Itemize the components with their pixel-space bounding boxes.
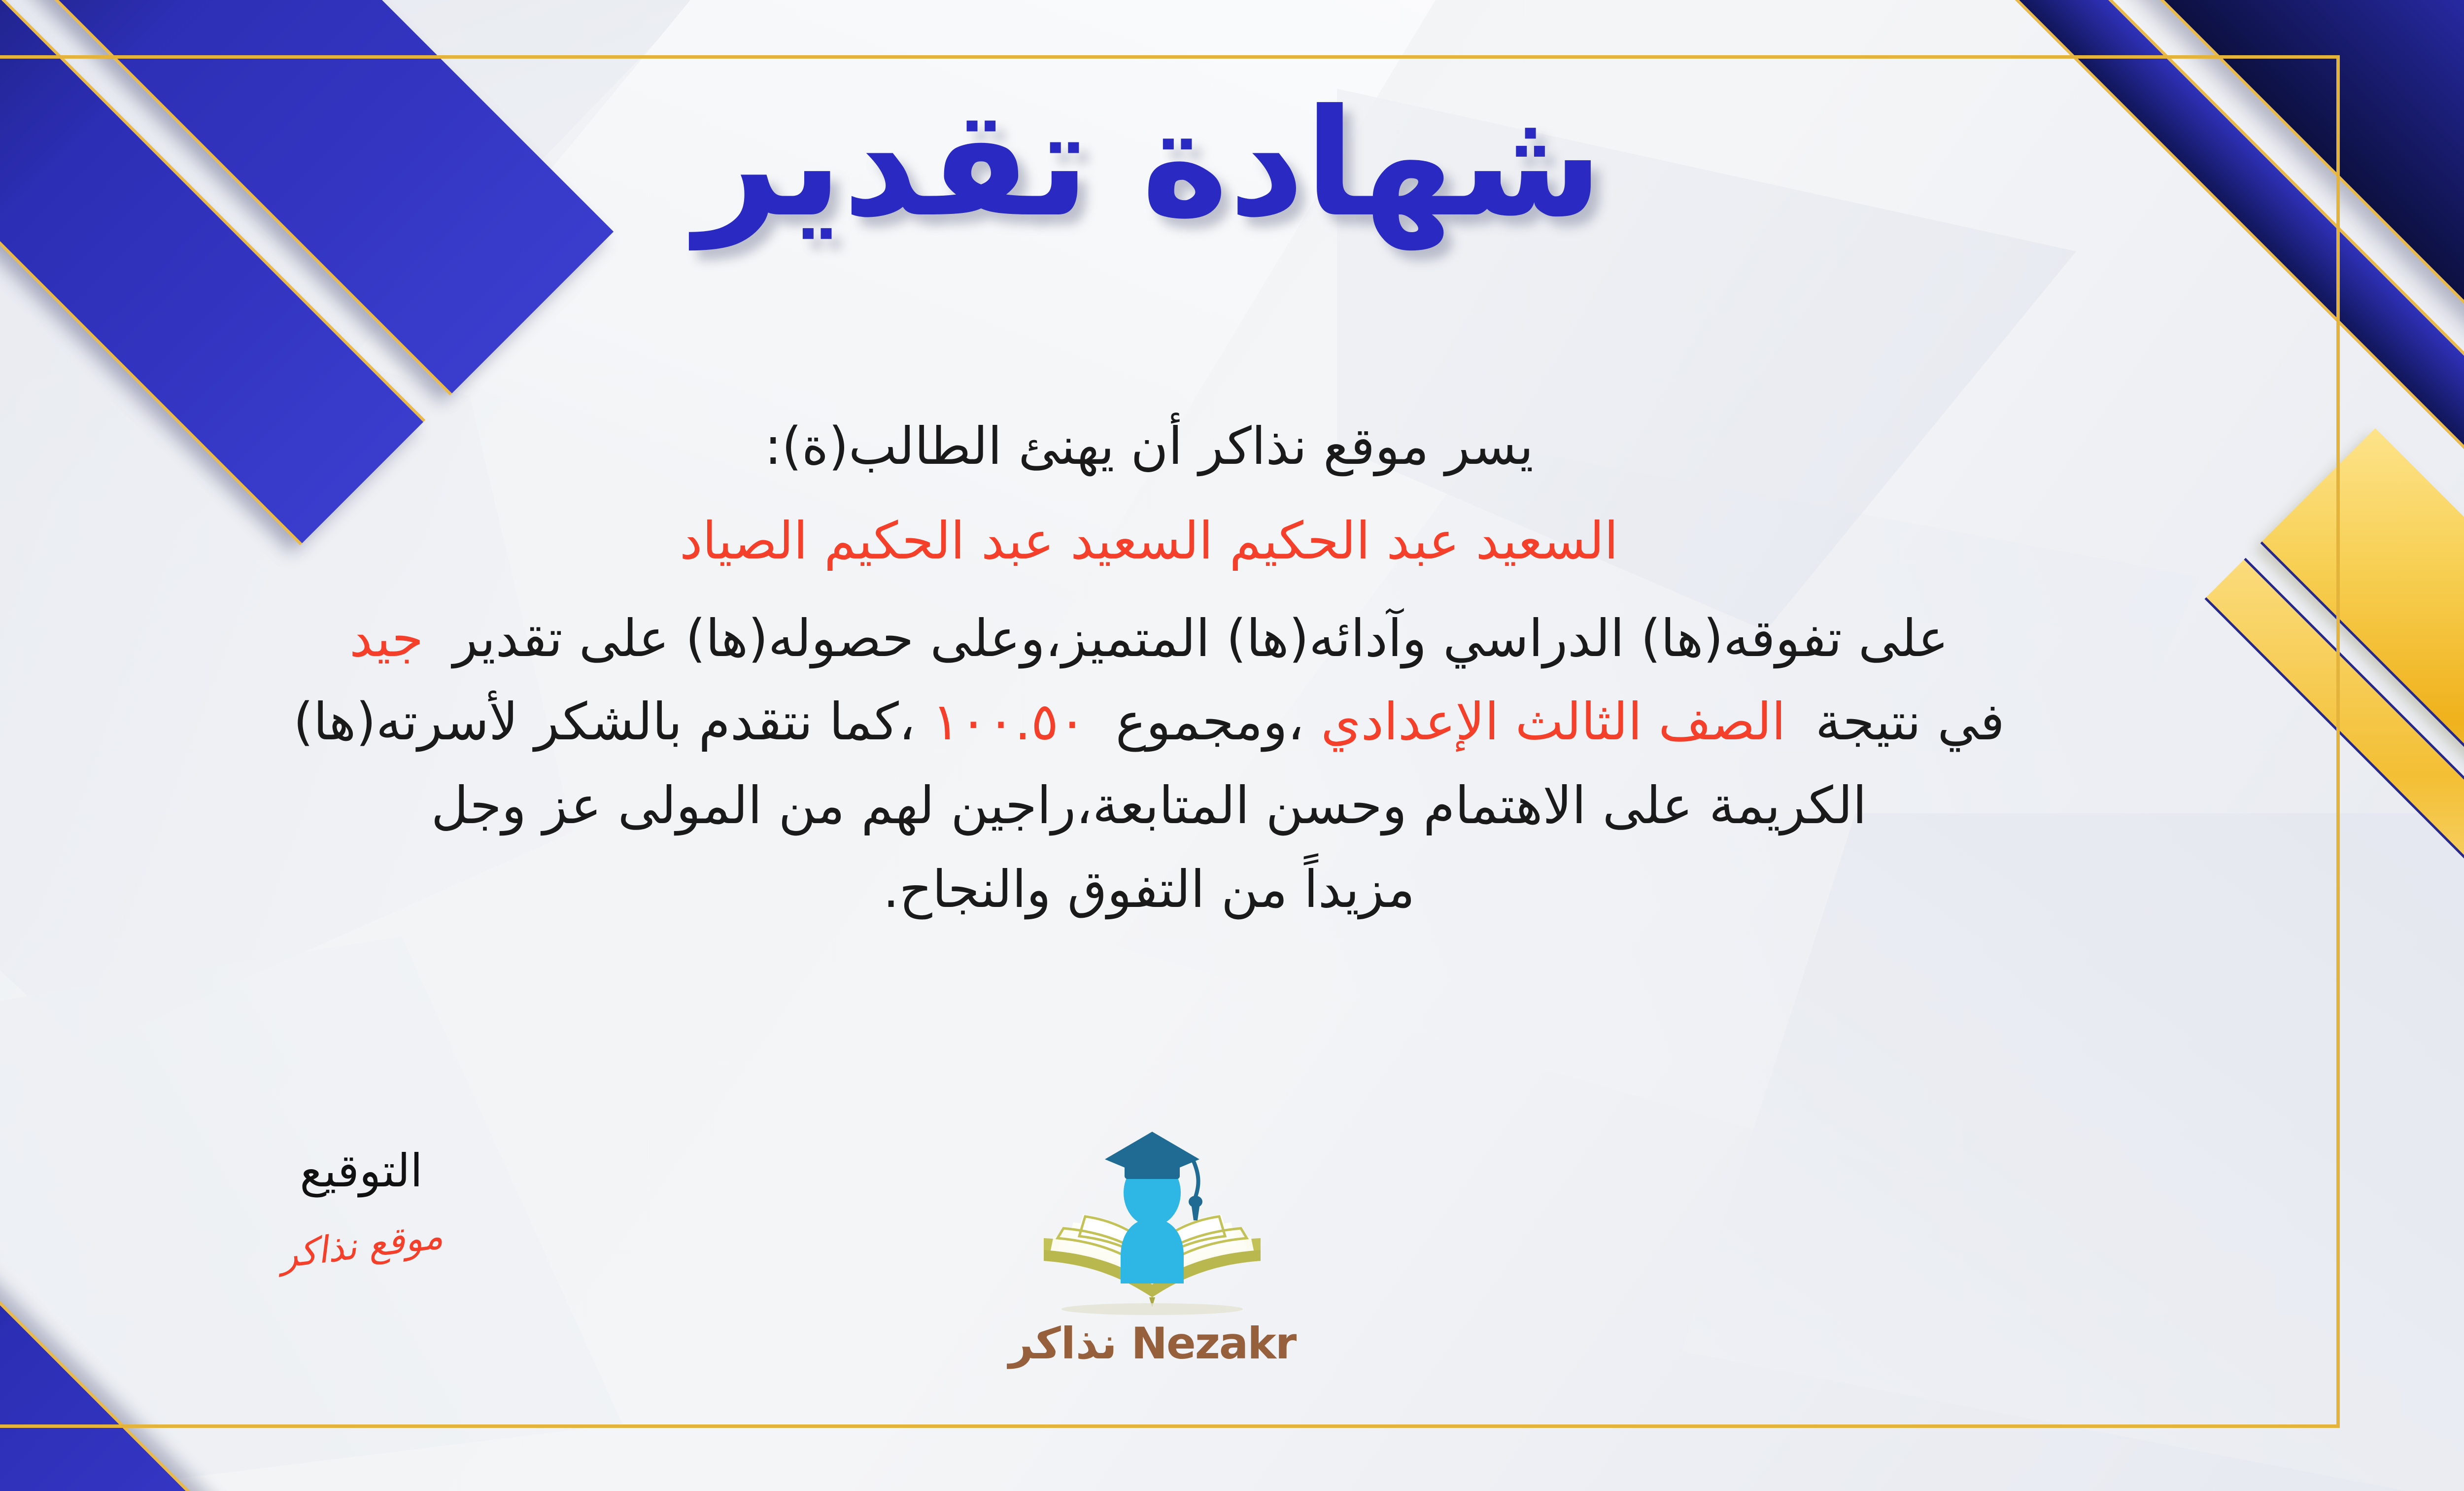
intro-text: يسر موقع نذاكر أن يهنئ الطالب(ة):: [0, 409, 2316, 484]
result-line: في نتيجةالصف الثالث الإعدادي،ومجموع١٠٠.٥…: [0, 685, 2316, 760]
stage-value: الصف الثالث الإعدادي: [1321, 692, 1785, 752]
total-score-value: ١٠٠.٥٠: [932, 692, 1086, 752]
signature-label: التوقيع: [208, 1148, 514, 1194]
site-logo: Nezakr نذاكر: [943, 1124, 1362, 1369]
achievement-line: على تفوقه(ها) الدراسي وآدائه(ها) المتميز…: [0, 601, 2316, 676]
certificate-title: شهادة تقدير: [0, 84, 2464, 243]
grade-value: جيد: [349, 608, 423, 668]
signature-block: التوقيع موقع نذاكر: [208, 1148, 514, 1267]
closing-line: مزيداً من التفوق والنجاح.: [0, 852, 2316, 927]
certificate-body: يسر موقع نذاكر أن يهنئ الطالب(ة): السعيد…: [0, 409, 2316, 936]
achievement-text: على تفوقه(ها) الدراسي وآدائه(ها) المتميز…: [453, 608, 1949, 668]
logo-wordmark: Nezakr نذاكر: [943, 1318, 1362, 1369]
certificate-canvas: شهادة تقدير يسر موقع نذاكر أن يهنئ الطال…: [0, 0, 2464, 1491]
student-name: السعيد عبد الحكيم السعيد عبد الحكيم الصي…: [0, 504, 2316, 579]
signature-mark: موقع نذاكر: [277, 1214, 445, 1277]
result-prefix: في نتيجة: [1815, 692, 2005, 752]
graduate-book-icon: [1014, 1124, 1290, 1321]
total-prefix: ،ومجموع: [1116, 692, 1304, 752]
certificate-content: شهادة تقدير يسر موقع نذاكر أن يهنئ الطال…: [0, 0, 2464, 1491]
family-thanks-line: الكريمة على الاهتمام وحسن المتابعة،راجين…: [0, 768, 2316, 843]
thanks-text: ،كما نتقدم بالشكر لأسرته(ها): [293, 692, 915, 752]
